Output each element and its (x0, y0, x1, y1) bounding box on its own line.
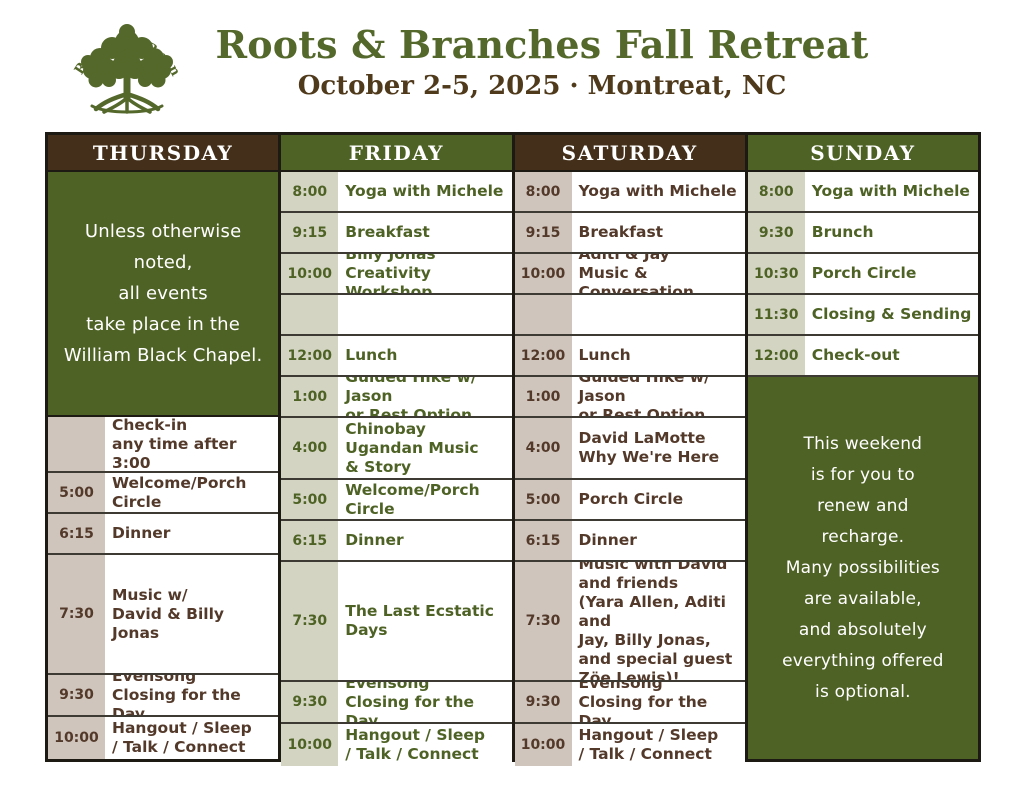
event-time: 7:30 (515, 562, 572, 680)
event-time: 7:30 (48, 555, 105, 673)
event-time: 9:15 (515, 213, 572, 252)
event-time: 8:00 (748, 172, 805, 211)
day-column-sunday: SUNDAY8:00Yoga with Michele9:30Brunch10:… (748, 135, 978, 759)
event-title: Dinner (105, 514, 278, 553)
schedule-row[interactable]: 8:00Yoga with Michele (515, 172, 745, 213)
event-time: 9:30 (748, 213, 805, 252)
schedule-row[interactable]: 7:30Music with David and friends (Yara A… (515, 562, 745, 682)
event-title: Check-out (805, 336, 978, 375)
schedule-row[interactable]: 6:15Dinner (515, 521, 745, 562)
event-title: Welcome/Porch Circle (105, 473, 278, 512)
event-title: Lunch (338, 336, 511, 375)
schedule-row[interactable]: 10:00Hangout / Sleep / Talk / Connect (515, 724, 745, 766)
schedule-row[interactable] (515, 295, 745, 336)
event-time: 11:30 (748, 295, 805, 334)
event-title: David LaMotte Why We're Here (572, 418, 745, 478)
event-title: Music with David and friends (Yara Allen… (572, 562, 745, 680)
day-header-thursday: THURSDAY (48, 135, 278, 172)
event-time (515, 295, 572, 334)
event-title: Guided Hike w/ Jason or Rest Option (338, 377, 511, 416)
day-column-saturday: SATURDAY8:00Yoga with Michele9:15Breakfa… (515, 135, 748, 759)
page-header: Roots & Branches Retreat (0, 0, 1024, 130)
event-time: 9:15 (281, 213, 338, 252)
event-title: Hangout / Sleep / Talk / Connect (572, 724, 745, 766)
event-time: 6:15 (48, 514, 105, 553)
event-time: 6:15 (515, 521, 572, 560)
event-time (48, 417, 105, 471)
event-time: 10:00 (515, 724, 572, 766)
schedule-row[interactable]: 9:30Brunch (748, 213, 978, 254)
event-title: Evensong Closing for the Day (572, 682, 745, 722)
schedule-row[interactable]: 7:30Music w/ David & Billy Jonas (48, 555, 278, 675)
event-time: 9:30 (48, 675, 105, 715)
day-body: 8:00Yoga with Michele9:15Breakfast10:00B… (281, 172, 511, 759)
event-time: 10:00 (48, 717, 105, 759)
event-title: Billy Jonas Creativity Workshop (338, 254, 511, 293)
schedule-row[interactable]: 12:00Lunch (515, 336, 745, 377)
schedule-row[interactable]: 8:00Yoga with Michele (281, 172, 511, 213)
schedule-row[interactable]: 10:30Porch Circle (748, 254, 978, 295)
event-time: 10:30 (748, 254, 805, 293)
title-block: Roots & Branches Fall Retreat October 2-… (155, 0, 868, 102)
event-title: Evensong Closing for the Day (338, 682, 511, 722)
weekend-note: This weekend is for you to renew and rec… (748, 377, 978, 759)
schedule-row[interactable]: 9:30Evensong Closing for the Day (515, 682, 745, 724)
event-title: Welcome/Porch Circle (338, 480, 511, 519)
event-time: 7:30 (281, 562, 338, 680)
event-title: Brunch (805, 213, 978, 252)
schedule-table: THURSDAYUnless otherwise noted, all even… (45, 132, 981, 762)
event-time: 5:00 (281, 480, 338, 519)
venue-note: Unless otherwise noted, all events take … (48, 172, 278, 417)
schedule-row[interactable]: 12:00Check-out (748, 336, 978, 377)
event-title: Check-in any time after 3:00 (105, 417, 278, 471)
event-title: Porch Circle (572, 480, 745, 519)
event-title: Breakfast (338, 213, 511, 252)
schedule-row[interactable]: 10:00Hangout / Sleep / Talk / Connect (48, 717, 278, 759)
schedule-row[interactable]: 12:00Lunch (281, 336, 511, 377)
event-time (281, 295, 338, 334)
event-time: 9:30 (281, 682, 338, 722)
event-time: 4:00 (515, 418, 572, 478)
event-title: Dinner (572, 521, 745, 560)
event-title: Yoga with Michele (572, 172, 745, 211)
schedule-row[interactable]: Check-in any time after 3:00 (48, 417, 278, 473)
day-body: 8:00Yoga with Michele9:30Brunch10:30Porc… (748, 172, 978, 759)
event-title: Breakfast (572, 213, 745, 252)
day-header-sunday: SUNDAY (748, 135, 978, 172)
event-time: 10:00 (281, 724, 338, 766)
schedule-row[interactable] (281, 295, 511, 336)
event-time: 9:30 (515, 682, 572, 722)
event-time: 5:00 (515, 480, 572, 519)
schedule-row[interactable]: 10:00Aditi & Jay Music & Conversation (515, 254, 745, 295)
event-title: Porch Circle (805, 254, 978, 293)
event-time: 10:00 (281, 254, 338, 293)
schedule-row[interactable]: 9:30Evensong Closing for the Day (48, 675, 278, 717)
event-time: 4:00 (281, 418, 338, 478)
schedule-row[interactable]: 5:00Welcome/Porch Circle (281, 480, 511, 521)
event-title: Music w/ David & Billy Jonas (105, 555, 278, 673)
event-time: 12:00 (515, 336, 572, 375)
day-column-friday: FRIDAY8:00Yoga with Michele9:15Breakfast… (281, 135, 514, 759)
event-title: Aditi & Jay Music & Conversation (572, 254, 745, 293)
event-title: The Last Ecstatic Days (338, 562, 511, 680)
schedule-row[interactable]: 8:00Yoga with Michele (748, 172, 978, 213)
page-title: Roots & Branches Fall Retreat (215, 22, 868, 68)
event-title: Hangout / Sleep / Talk / Connect (338, 724, 511, 766)
event-title: Chinobay Ugandan Music & Story (338, 418, 511, 478)
day-header-saturday: SATURDAY (515, 135, 745, 172)
schedule-row[interactable]: 5:00Porch Circle (515, 480, 745, 521)
event-time: 1:00 (515, 377, 572, 416)
schedule-row[interactable]: 4:00David LaMotte Why We're Here (515, 418, 745, 480)
event-time: 6:15 (281, 521, 338, 560)
event-title (572, 295, 745, 334)
schedule-row[interactable]: 1:00Guided Hike w/ Jason or Rest Option (281, 377, 511, 418)
event-title: Yoga with Michele (805, 172, 978, 211)
schedule-row[interactable]: 7:30The Last Ecstatic Days (281, 562, 511, 682)
event-time: 10:00 (515, 254, 572, 293)
event-time: 1:00 (281, 377, 338, 416)
event-time: 5:00 (48, 473, 105, 512)
event-title: Hangout / Sleep / Talk / Connect (105, 717, 278, 759)
event-title: Lunch (572, 336, 745, 375)
day-body: 8:00Yoga with Michele9:15Breakfast10:00A… (515, 172, 745, 759)
event-time: 8:00 (515, 172, 572, 211)
schedule-row[interactable]: 9:15Breakfast (515, 213, 745, 254)
page-subtitle: October 2-5, 2025 · Montreat, NC (215, 70, 868, 102)
event-time: 12:00 (748, 336, 805, 375)
event-title: Guided Hike w/ Jason or Rest Option (572, 377, 745, 416)
event-title (338, 295, 511, 334)
event-title: Closing & Sending (805, 295, 978, 334)
schedule-row[interactable]: 10:00Billy Jonas Creativity Workshop (281, 254, 511, 295)
schedule-row[interactable]: 6:15Dinner (48, 514, 278, 555)
schedule-row[interactable]: 4:00Chinobay Ugandan Music & Story (281, 418, 511, 480)
tree-of-life-logo: Roots & Branches Retreat (62, 6, 192, 126)
event-title: Dinner (338, 521, 511, 560)
event-time: 8:00 (281, 172, 338, 211)
schedule-row[interactable]: 9:15Breakfast (281, 213, 511, 254)
schedule-row[interactable]: 5:00Welcome/Porch Circle (48, 473, 278, 514)
schedule-row[interactable]: 11:30Closing & Sending (748, 295, 978, 336)
schedule-row[interactable]: 9:30Evensong Closing for the Day (281, 682, 511, 724)
schedule-row[interactable]: 6:15Dinner (281, 521, 511, 562)
event-time: 12:00 (281, 336, 338, 375)
day-column-thursday: THURSDAYUnless otherwise noted, all even… (48, 135, 281, 759)
day-body: Unless otherwise noted, all events take … (48, 172, 278, 759)
schedule-row[interactable]: 10:00Hangout / Sleep / Talk / Connect (281, 724, 511, 766)
event-title: Yoga with Michele (338, 172, 511, 211)
schedule-row[interactable]: 1:00Guided Hike w/ Jason or Rest Option (515, 377, 745, 418)
event-title: Evensong Closing for the Day (105, 675, 278, 715)
day-header-friday: FRIDAY (281, 135, 511, 172)
